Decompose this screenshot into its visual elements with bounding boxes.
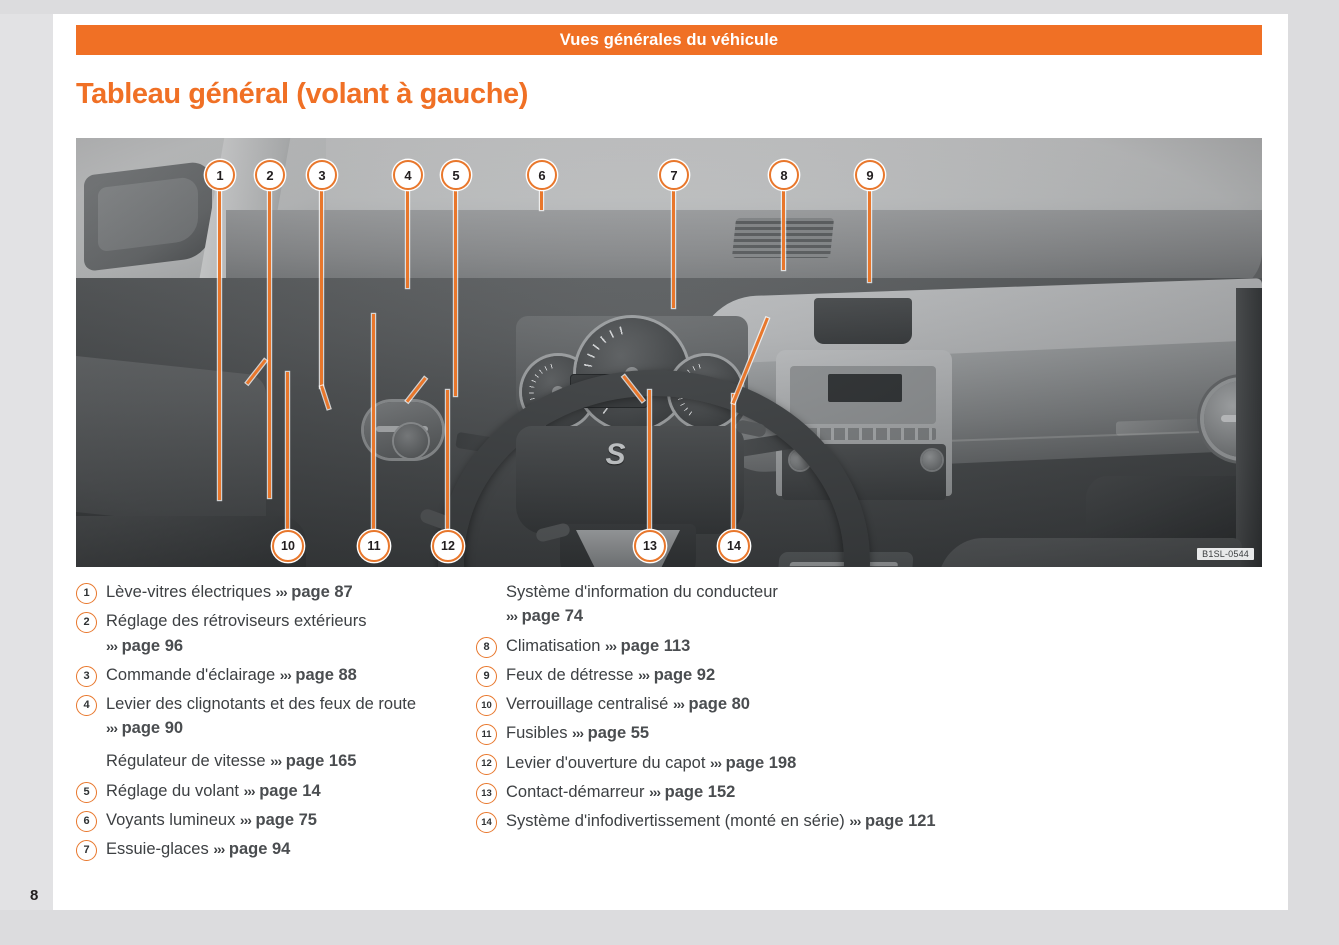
legend-column-right: Système d'information du conducteur››› p…	[476, 580, 936, 838]
legend-text: Système d'infodivertissement (monté en s…	[506, 809, 936, 833]
legend-marker: 2	[76, 612, 97, 633]
legend-label: Commande d'éclairage	[106, 666, 275, 684]
light-switch-knob	[394, 424, 428, 458]
legend-marker	[476, 583, 497, 604]
legend-marker: 12	[476, 754, 497, 775]
legend-text: Verrouillage centralisé ››› page 80	[506, 692, 750, 716]
legend-text: Feux de détresse ››› page 92	[506, 663, 715, 687]
page-margin-strip	[0, 14, 53, 910]
callout-marker-13[interactable]: 13	[634, 530, 666, 562]
legend-page-ref: page 87	[291, 583, 352, 601]
legend-label: Réglage des rétroviseurs extérieurs	[106, 612, 366, 630]
chevron-icon: ›››	[270, 753, 281, 769]
legend-reference[interactable]: ››› page 87	[276, 583, 353, 601]
legend-page-ref: page 74	[522, 607, 583, 625]
legend-label: Verrouillage centralisé	[506, 695, 668, 713]
chevron-icon: ›››	[572, 725, 583, 741]
legend-label: Voyants lumineux	[106, 811, 235, 829]
manual-page: Vues générales du véhicule Tableau génér…	[53, 14, 1288, 910]
chevron-icon: ›››	[605, 638, 616, 654]
chevron-icon: ›››	[240, 812, 251, 828]
passenger-door	[1236, 288, 1262, 567]
chevron-icon: ›››	[649, 784, 660, 800]
legend-page-ref: page 14	[259, 782, 320, 800]
legend-label: Levier des clignotants et des feux de ro…	[106, 695, 416, 713]
legend-label: Contact-démarreur	[506, 783, 644, 801]
leader-line-1	[218, 160, 221, 500]
legend-marker: 9	[476, 666, 497, 687]
legend-marker: 8	[476, 637, 497, 658]
legend-marker: 13	[476, 783, 497, 804]
legend-reference[interactable]: ››› page 75	[240, 811, 317, 829]
legend-marker: 6	[76, 811, 97, 832]
legend-reference[interactable]: ››› page 74	[506, 607, 583, 625]
chevron-icon: ›››	[849, 813, 860, 829]
legend-page-ref: page 55	[588, 724, 649, 742]
legend-label: Réglage du volant	[106, 782, 239, 800]
leader-line-12	[446, 390, 449, 532]
chevron-icon: ›››	[106, 638, 117, 654]
legend-text: Réglage du volant ››› page 14	[106, 779, 321, 803]
list-item[interactable]: 7 Essuie-glaces ››› page 94	[76, 837, 516, 861]
legend-text: Climatisation ››› page 113	[506, 634, 690, 658]
legend-label: Régulateur de vitesse	[106, 752, 266, 770]
exterior-mirror	[84, 160, 212, 272]
chevron-icon: ›››	[213, 841, 224, 857]
legend-text: Levier d'ouverture du capot ››› page 198	[506, 751, 796, 775]
dashboard-photo: S B1SL-0544	[76, 138, 1262, 567]
legend-marker: 4	[76, 695, 97, 716]
legend-text: Système d'information du conducteur››› p…	[506, 580, 778, 629]
climate-display	[828, 374, 902, 402]
legend-label: Climatisation	[506, 637, 600, 655]
legend-marker	[76, 752, 97, 773]
legend-text: Régulateur de vitesse ››› page 165	[106, 749, 356, 773]
legend-reference[interactable]: ››› page 80	[673, 695, 750, 713]
callout-marker-10[interactable]: 10	[272, 530, 304, 562]
legend-reference[interactable]: ››› page 88	[280, 666, 357, 684]
callout-marker-4[interactable]: 4	[393, 160, 423, 190]
chevron-icon: ›››	[638, 667, 649, 683]
list-item[interactable]: 12 Levier d'ouverture du capot ››› page …	[476, 751, 936, 775]
chevron-icon: ›››	[106, 720, 117, 736]
legend-text: Voyants lumineux ››› page 75	[106, 808, 317, 832]
legend-label: Système d'infodivertissement (monté en s…	[506, 812, 845, 830]
chevron-icon: ›››	[673, 696, 684, 712]
list-item[interactable]: 8 Climatisation ››› page 113	[476, 634, 936, 658]
legend-reference[interactable]: ››› page 96	[106, 637, 183, 655]
list-item[interactable]: Système d'information du conducteur››› p…	[476, 580, 936, 629]
callout-marker-6[interactable]: 6	[527, 160, 557, 190]
legend-marker: 7	[76, 840, 97, 861]
legend-marker: 1	[76, 583, 97, 604]
list-item[interactable]: 10 Verrouillage centralisé ››› page 80	[476, 692, 936, 716]
callout-marker-12[interactable]: 12	[432, 530, 464, 562]
callout-marker-9[interactable]: 9	[855, 160, 885, 190]
legend-reference[interactable]: ››› page 121	[849, 812, 935, 830]
legend-label: Essuie-glaces	[106, 840, 209, 858]
leader-line-11	[372, 314, 375, 532]
legend-reference[interactable]: ››› page 94	[213, 840, 290, 858]
leader-line-14	[732, 394, 735, 532]
page-number: 8	[30, 887, 38, 904]
phone-holder	[814, 298, 912, 344]
legend-text: Levier des clignotants et des feux de ro…	[106, 692, 416, 741]
legend-column-left: 1 Lève-vitres électriques ››› page 87 2 …	[76, 580, 516, 867]
list-item[interactable]: 9 Feux de détresse ››› page 92	[476, 663, 936, 687]
legend-reference[interactable]: ››› page 198	[710, 754, 796, 772]
legend-page-ref: page 152	[665, 783, 736, 801]
chevron-icon: ›››	[280, 667, 291, 683]
callout-marker-7[interactable]: 7	[659, 160, 689, 190]
callout-marker-11[interactable]: 11	[358, 530, 390, 562]
leader-line-13	[648, 390, 651, 532]
legend-page-ref: page 88	[295, 666, 356, 684]
chevron-icon: ›››	[710, 755, 721, 771]
leader-line-2	[268, 160, 271, 498]
legend-marker: 14	[476, 812, 497, 833]
legend-page-ref: page 96	[122, 637, 183, 655]
callout-marker-8[interactable]: 8	[769, 160, 799, 190]
legend-page-ref: page 165	[286, 752, 357, 770]
legend-page-ref: page 80	[689, 695, 750, 713]
infotainment-knob-right	[922, 450, 942, 470]
list-item[interactable]: 11 Fusibles ››› page 55	[476, 721, 936, 745]
list-item[interactable]: 4 Levier des clignotants et des feux de …	[76, 692, 516, 741]
leader-line-3	[320, 160, 323, 388]
callout-marker-5[interactable]: 5	[441, 160, 471, 190]
leader-line-10	[286, 372, 289, 532]
legend-label: Levier d'ouverture du capot	[506, 754, 705, 772]
legend-reference[interactable]: ››› page 92	[638, 666, 715, 684]
legend-reference[interactable]: ››› page 113	[605, 637, 690, 655]
chapter-header-band: Vues générales du véhicule	[76, 25, 1262, 55]
page-title: Tableau général (volant à gauche)	[76, 78, 528, 111]
legend-label: Fusibles	[506, 724, 567, 742]
legend-marker: 3	[76, 666, 97, 687]
list-item[interactable]: 3 Commande d'éclairage ››› page 88	[76, 663, 516, 687]
callout-marker-3[interactable]: 3	[307, 160, 337, 190]
legend-marker: 5	[76, 782, 97, 803]
list-item[interactable]: 6 Voyants lumineux ››› page 75	[76, 808, 516, 832]
passenger-footwell	[929, 538, 1243, 567]
legend-page-ref: page 75	[256, 811, 317, 829]
chevron-icon: ›››	[244, 783, 255, 799]
chevron-icon: ›››	[506, 608, 517, 624]
legend-page-ref: page 94	[229, 840, 290, 858]
callout-marker-1[interactable]: 1	[205, 160, 235, 190]
list-item[interactable]: 2 Réglage des rétroviseurs extérieurs›››…	[76, 609, 516, 658]
legend-reference[interactable]: ››› page 152	[649, 783, 735, 801]
legend-text: Contact-démarreur ››› page 152	[506, 780, 735, 804]
list-item[interactable]: 13 Contact-démarreur ››› page 152	[476, 780, 936, 804]
legend-label: Feux de détresse	[506, 666, 634, 684]
legend-label: Lève-vitres électriques	[106, 583, 271, 601]
callout-marker-2[interactable]: 2	[255, 160, 285, 190]
legend-text: Lève-vitres électriques ››› page 87	[106, 580, 353, 604]
legend-marker: 10	[476, 695, 497, 716]
legend-reference[interactable]: ››› page 14	[244, 782, 321, 800]
callout-marker-14[interactable]: 14	[718, 530, 750, 562]
list-item[interactable]: Régulateur de vitesse ››› page 165	[76, 749, 516, 773]
legend-page-ref: page 92	[654, 666, 715, 684]
legend-page-ref: page 90	[122, 719, 183, 737]
chevron-icon: ›››	[276, 584, 287, 600]
legend-page-ref: page 198	[726, 754, 797, 772]
legend-marker: 11	[476, 724, 497, 745]
leader-line-5	[454, 160, 457, 396]
legend-page-ref: page 121	[865, 812, 936, 830]
legend-label: Système d'information du conducteur	[506, 583, 778, 601]
chapter-header-title: Vues générales du véhicule	[560, 31, 778, 50]
legend-text: Réglage des rétroviseurs extérieurs››› p…	[106, 609, 366, 658]
legend-text: Fusibles ››› page 55	[506, 721, 649, 745]
photo-reference-code: B1SL-0544	[1197, 548, 1254, 560]
legend-page-ref: page 113	[621, 637, 691, 655]
driver-door-panel	[76, 356, 266, 532]
legend-text: Essuie-glaces ››› page 94	[106, 837, 290, 861]
list-item[interactable]: 1 Lève-vitres électriques ››› page 87	[76, 580, 516, 604]
legend-text: Commande d'éclairage ››› page 88	[106, 663, 357, 687]
legend-reference[interactable]: ››› page 165	[270, 752, 356, 770]
list-item[interactable]: 14 Système d'infodivertissement (monté e…	[476, 809, 936, 833]
seat-brand-logo: S	[592, 438, 638, 472]
legend-reference[interactable]: ››› page 55	[572, 724, 649, 742]
list-item[interactable]: 5 Réglage du volant ››› page 14	[76, 779, 516, 803]
legend-reference[interactable]: ››› page 90	[106, 719, 183, 737]
